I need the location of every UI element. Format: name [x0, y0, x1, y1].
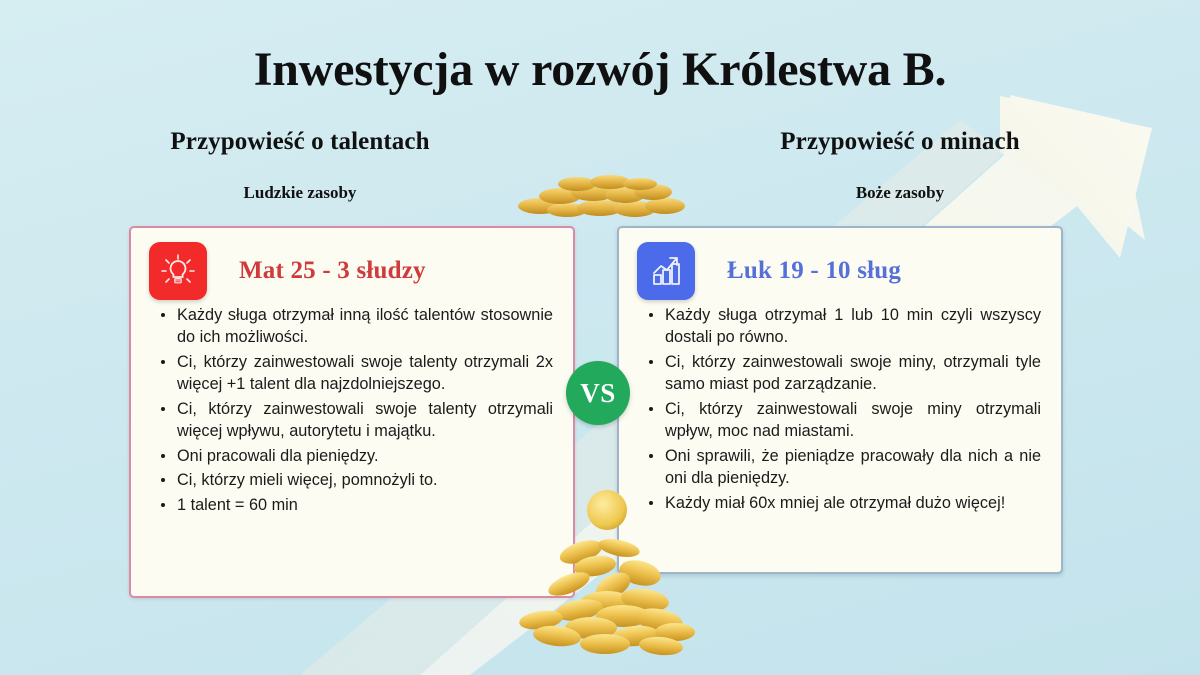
lightbulb-icon: [149, 242, 207, 300]
list-item: Każdy sługa otrzymał inną ilość talentów…: [157, 304, 553, 349]
list-item-text: Ci, którzy zainwestowali swoje talenty o…: [177, 400, 553, 440]
bar-chart-growth-icon: [637, 242, 695, 300]
right-resource-label: Boże zasoby: [600, 183, 1200, 203]
right-column-headings: Przypowieść o minach Boże zasoby: [600, 128, 1200, 203]
versus-label: VS: [580, 378, 616, 409]
left-parable-subtitle: Przypowieść o talentach: [0, 128, 600, 156]
list-item: Ci, którzy zainwestowali swoje miny otrz…: [645, 398, 1041, 443]
left-resource-label: Ludzkie zasoby: [0, 183, 600, 203]
header: Inwestycja w rozwój Królestwa B.: [0, 0, 1200, 97]
list-item: Ci, którzy zainwestowali swoje talenty o…: [157, 398, 553, 443]
list-item-text: Ci, którzy zainwestowali swoje miny, otr…: [665, 353, 1041, 393]
gold-coins-pile-icon: [495, 480, 725, 660]
list-item-text: Każdy sługa otrzymał inną ilość talentów…: [177, 306, 553, 346]
list-item: 1 talent = 60 min: [157, 494, 553, 516]
list-item-text: Oni pracowali dla pieniędzy.: [177, 447, 379, 465]
list-item: Każdy sługa otrzymał 1 lub 10 min czyli …: [645, 304, 1041, 349]
versus-badge: VS: [566, 361, 630, 425]
page-title: Inwestycja w rozwój Królestwa B.: [0, 44, 1200, 97]
left-card-title: Mat 25 - 3 słudzy: [239, 257, 426, 285]
list-item: Ci, którzy mieli więcej, pomnożyli to.: [157, 469, 553, 491]
list-item-text: Ci, którzy zainwestowali swoje miny otrz…: [665, 400, 1041, 440]
subtitles-row: Przypowieść o talentach Ludzkie zasoby P…: [0, 128, 1200, 203]
list-item-text: Ci, którzy zainwestowali swoje talenty o…: [177, 353, 553, 393]
list-item: Ci, którzy zainwestowali swoje talenty o…: [157, 351, 553, 396]
right-card-header: Łuk 19 - 10 sług: [619, 228, 1061, 302]
list-item-text: Ci, którzy mieli więcej, pomnożyli to.: [177, 471, 438, 489]
list-item: Oni pracowali dla pieniędzy.: [157, 445, 553, 467]
right-card-title: Łuk 19 - 10 sług: [727, 257, 901, 285]
left-card-header: Mat 25 - 3 słudzy: [131, 228, 573, 302]
list-item-text: 1 talent = 60 min: [177, 496, 298, 514]
left-column-headings: Przypowieść o talentach Ludzkie zasoby: [0, 128, 600, 203]
left-bullet-list: Każdy sługa otrzymał inną ilość talentów…: [157, 304, 553, 516]
list-item: Ci, którzy zainwestowali swoje miny, otr…: [645, 351, 1041, 396]
right-parable-subtitle: Przypowieść o minach: [600, 128, 1200, 156]
list-item-text: Każdy sługa otrzymał 1 lub 10 min czyli …: [665, 306, 1041, 346]
